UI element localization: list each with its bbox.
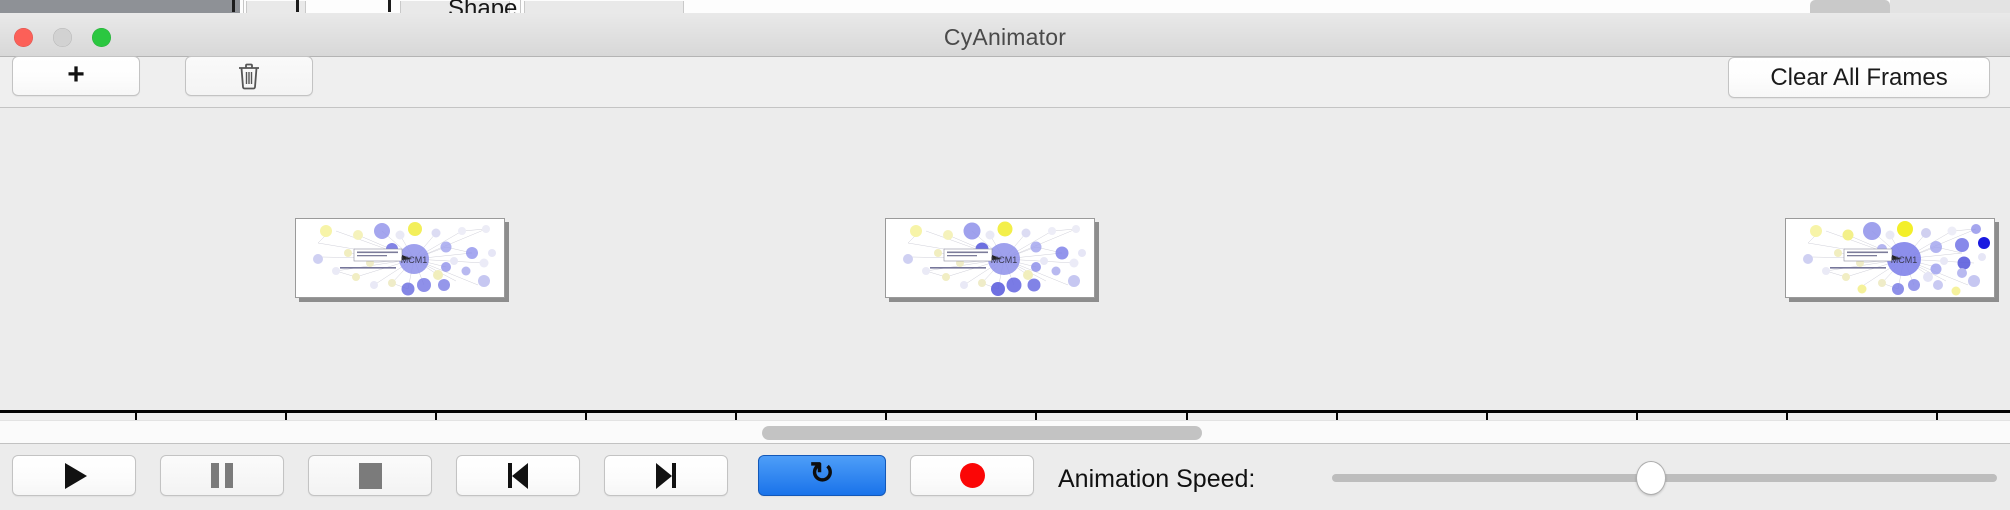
cyanimator-window: Shape CyAnimator + Clear All Frames — [0, 0, 2010, 510]
delete-frame-button[interactable] — [185, 56, 313, 96]
prev-frame-button[interactable] — [456, 455, 580, 496]
next-frame-button[interactable] — [604, 455, 728, 496]
axis-tick-minor — [1636, 413, 1638, 420]
title-bar: CyAnimator — [0, 13, 2010, 57]
play-icon — [65, 463, 87, 489]
background-tab — [1810, 0, 1890, 13]
background-swatch — [524, 1, 684, 13]
axis-tick-major — [285, 413, 287, 420]
axis-tick-minor — [435, 413, 437, 420]
add-frame-button[interactable]: + — [12, 56, 140, 96]
record-icon — [960, 463, 985, 488]
axis-tick-major — [1786, 413, 1788, 420]
background-tick — [388, 0, 391, 12]
play-button[interactable] — [12, 455, 136, 496]
stop-icon — [359, 463, 382, 489]
timeline-axis — [0, 410, 2010, 413]
axis-tick-minor — [1936, 413, 1938, 420]
network-graph-icon: MCM1 — [1786, 219, 1994, 297]
window-title: CyAnimator — [0, 24, 2010, 51]
axis-tick-major — [585, 413, 587, 420]
background-tick — [296, 0, 299, 12]
plus-icon: + — [67, 60, 85, 90]
record-button[interactable] — [910, 455, 1034, 496]
background-panel — [1890, 0, 2010, 13]
playback-controls: ↻ Animation Speed: — [0, 445, 2010, 510]
center-node-label: MCM1 — [991, 255, 1018, 265]
axis-tick-major — [1486, 413, 1488, 420]
skip-back-icon — [508, 463, 528, 489]
loop-icon: ↻ — [809, 459, 834, 489]
axis-tick-major — [885, 413, 887, 420]
slider-thumb[interactable] — [1636, 461, 1666, 495]
network-graph-icon: MCM1 — [296, 219, 504, 297]
background-window-label: Shape — [448, 0, 517, 13]
frame-thumbnail[interactable]: MCM1 — [1785, 218, 1995, 298]
pause-icon — [211, 463, 233, 488]
timeline-panel[interactable]: MCM1 — [0, 108, 2010, 420]
frame-thumbnail[interactable]: MCM1 — [885, 218, 1095, 298]
background-window-strip: Shape — [0, 0, 2010, 13]
axis-tick-minor — [1336, 413, 1338, 420]
stop-button[interactable] — [308, 455, 432, 496]
pause-button[interactable] — [160, 455, 284, 496]
background-divider — [520, 0, 521, 13]
timeline-scrollbar[interactable] — [0, 420, 2010, 444]
center-node-label: MCM1 — [1891, 255, 1918, 265]
center-node-label: MCM1 — [401, 255, 428, 265]
axis-tick-minor — [135, 413, 137, 420]
animation-speed-slider[interactable] — [1332, 474, 1997, 482]
network-graph-icon: MCM1 — [886, 219, 1094, 297]
axis-tick-major — [1186, 413, 1188, 420]
axis-tick-minor — [735, 413, 737, 420]
background-tick — [232, 0, 235, 12]
background-toolbar-block — [0, 0, 240, 13]
loop-button[interactable]: ↻ — [758, 455, 886, 496]
axis-tick-minor — [1035, 413, 1037, 420]
skip-forward-icon — [656, 463, 676, 489]
background-divider — [243, 0, 244, 13]
scrollbar-thumb[interactable] — [762, 426, 1202, 440]
animation-speed-label: Animation Speed: — [1058, 465, 1255, 494]
trash-icon — [236, 62, 262, 90]
frame-thumbnail[interactable]: MCM1 — [295, 218, 505, 298]
clear-all-frames-button[interactable]: Clear All Frames — [1728, 57, 1990, 98]
